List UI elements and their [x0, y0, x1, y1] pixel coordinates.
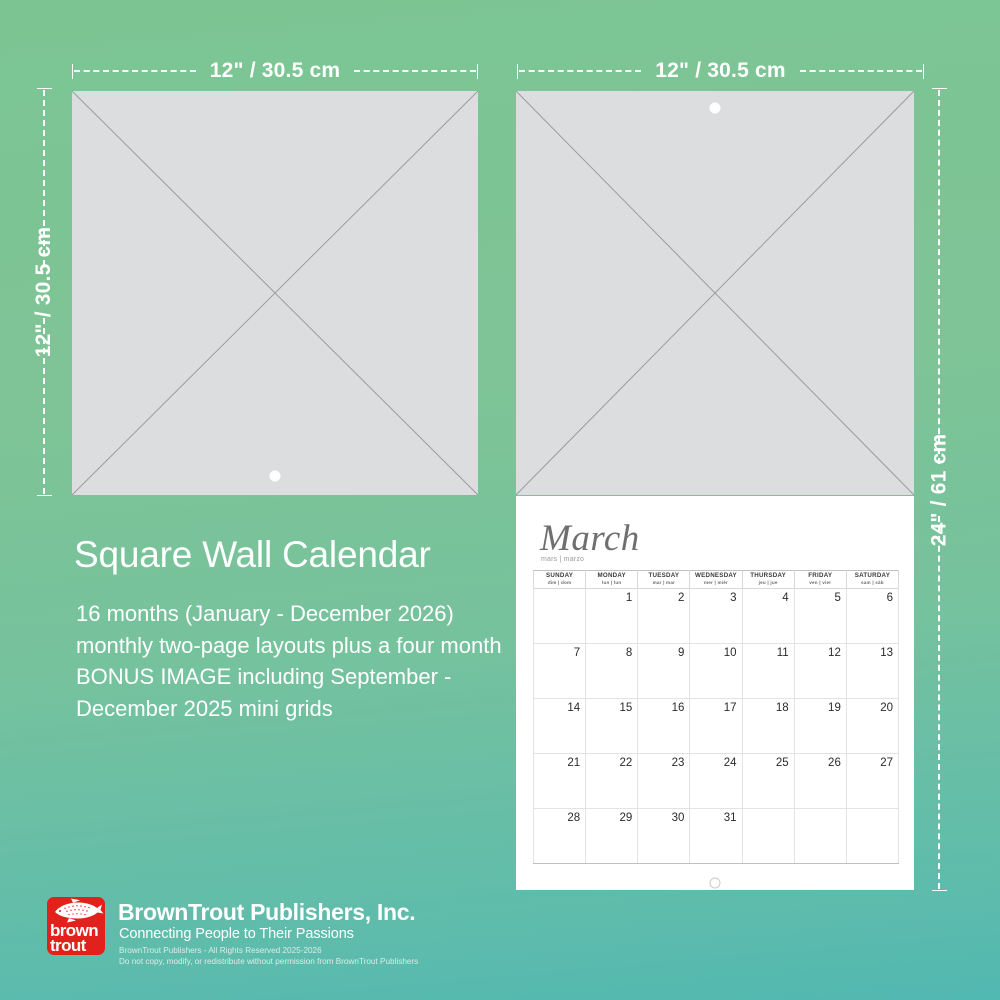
company-name: BrownTrout Publishers, Inc. — [118, 899, 415, 926]
calendar-week-row: 14 15 16 17 18 19 20 — [534, 699, 899, 754]
calendar-day-cell[interactable]: 6 — [846, 589, 898, 644]
dimension-dash-line — [800, 70, 922, 72]
calendar-day-cell[interactable]: 21 — [534, 754, 586, 809]
calendar-day-header-friday: FRIDAY ven | vier — [794, 571, 846, 589]
dimension-dash-line — [938, 90, 940, 464]
calendar-day-cell[interactable]: 25 — [742, 754, 794, 809]
calendar-day-cell[interactable]: 23 — [638, 754, 690, 809]
calendar-day-cell[interactable]: 27 — [846, 754, 898, 809]
left-cover-image-placeholder — [72, 91, 478, 495]
calendar-day-cell[interactable]: 15 — [586, 699, 638, 754]
calendar-day-cell[interactable]: 1 — [586, 589, 638, 644]
dimension-left-panel-height-label: 12" / 30.5 cm — [19, 227, 69, 357]
dimension-dash-line — [354, 70, 476, 72]
calendar-header-row: SUNDAY dim | dom MONDAY lun | lun TUESDA… — [534, 571, 899, 589]
calendar-day-header-tuesday: TUESDAY mar | mar — [638, 571, 690, 589]
dimension-cap-end — [923, 64, 924, 79]
placeholder-diagonals-icon — [72, 91, 478, 495]
calendar-day-cell[interactable]: 14 — [534, 699, 586, 754]
calendar-day-header-sunday: SUNDAY dim | dom — [534, 571, 586, 589]
dimension-left-panel-width: 12" / 30.5 cm — [72, 58, 478, 84]
calendar-week-row: 1 2 3 4 5 6 — [534, 589, 899, 644]
day-name-alt: mar | mar — [638, 580, 689, 586]
hole-punch-icon — [270, 471, 281, 482]
page-title: Square Wall Calendar — [74, 534, 431, 576]
dimension-left-panel-width-label: 12" / 30.5 cm — [197, 59, 353, 83]
day-name-alt: mer | miér — [690, 580, 741, 586]
dimension-cap-start — [37, 88, 52, 89]
calendar-day-cell[interactable]: 18 — [742, 699, 794, 754]
day-name: WEDNESDAY — [690, 572, 741, 580]
legal-notice: BrownTrout Publishers - All Rights Reser… — [119, 946, 418, 967]
product-description: 16 months (January - December 2026) mont… — [76, 598, 526, 724]
day-name-alt: dim | dom — [534, 580, 585, 586]
calendar-day-header-monday: MONDAY lun | lun — [586, 571, 638, 589]
logo-word-trout: trout — [50, 938, 103, 954]
day-name-alt: lun | lun — [586, 580, 637, 586]
dimension-left-panel-height: 12" / 30.5 cm — [31, 88, 57, 496]
calendar-month-subtitle: mars | marzo — [541, 556, 584, 563]
hole-punch-icon — [710, 877, 721, 888]
calendar-day-header-saturday: SATURDAY sam | sáb — [846, 571, 898, 589]
calendar-day-cell[interactable]: 13 — [846, 644, 898, 699]
calendar-day-cell[interactable]: 12 — [794, 644, 846, 699]
trout-fish-icon — [47, 897, 105, 924]
calendar-day-cell[interactable]: 4 — [742, 589, 794, 644]
calendar-day-cell[interactable]: 10 — [690, 644, 742, 699]
calendar-day-header-thursday: THURSDAY jeu | jue — [742, 571, 794, 589]
calendar-day-cell[interactable] — [534, 589, 586, 644]
calendar-day-cell[interactable]: 31 — [690, 809, 742, 864]
day-name-alt: ven | vier — [795, 580, 846, 586]
dimension-cap-start — [72, 64, 73, 79]
calendar-day-cell[interactable]: 11 — [742, 644, 794, 699]
calendar-week-row: 21 22 23 24 25 26 27 — [534, 754, 899, 809]
calendar-day-cell[interactable]: 9 — [638, 644, 690, 699]
calendar-day-cell[interactable]: 30 — [638, 809, 690, 864]
day-name: SATURDAY — [847, 572, 898, 580]
day-name: THURSDAY — [743, 572, 794, 580]
calendar-day-cell[interactable]: 29 — [586, 809, 638, 864]
calendar-week-row: 7 8 9 10 11 12 13 — [534, 644, 899, 699]
calendar-day-cell[interactable]: 2 — [638, 589, 690, 644]
day-name: MONDAY — [586, 572, 637, 580]
dimension-dash-line — [519, 70, 641, 72]
dimension-right-panel-height-label: 24" / 61 cm — [914, 433, 964, 546]
day-name: SUNDAY — [534, 572, 585, 580]
calendar-day-cell[interactable]: 7 — [534, 644, 586, 699]
dimension-right-panel-height: 24" / 61 cm — [926, 88, 952, 891]
company-tagline: Connecting People to Their Passions — [119, 926, 354, 942]
dimension-cap-end — [932, 890, 947, 891]
calendar-day-cell[interactable]: 24 — [690, 754, 742, 809]
calendar-week-row: 28 29 30 31 — [534, 809, 899, 864]
calendar-day-cell[interactable]: 8 — [586, 644, 638, 699]
calendar-day-cell[interactable]: 5 — [794, 589, 846, 644]
calendar-day-cell[interactable]: 26 — [794, 754, 846, 809]
calendar-day-cell[interactable]: 17 — [690, 699, 742, 754]
calendar-day-cell[interactable]: 22 — [586, 754, 638, 809]
calendar-day-cell[interactable] — [742, 809, 794, 864]
dimension-dash-line — [74, 70, 196, 72]
calendar-day-cell[interactable]: 28 — [534, 809, 586, 864]
calendar-day-cell[interactable]: 20 — [846, 699, 898, 754]
day-name: TUESDAY — [638, 572, 689, 580]
calendar-day-header-wednesday: WEDNESDAY mer | miér — [690, 571, 742, 589]
browntrout-logo: brown trout — [47, 897, 105, 955]
dimension-dash-line — [938, 516, 940, 890]
calendar-table: SUNDAY dim | dom MONDAY lun | lun TUESDA… — [533, 570, 899, 864]
legal-line-2: Do not copy, modify, or redistribute wit… — [119, 957, 418, 968]
day-name-alt: jeu | jue — [743, 580, 794, 586]
dimension-cap-end — [477, 64, 478, 79]
calendar-grid-page: March mars | marzo SUNDAY dim | dom MOND… — [516, 496, 914, 890]
dimension-cap-start — [932, 88, 947, 89]
dimension-cap-start — [517, 64, 518, 79]
day-name: FRIDAY — [795, 572, 846, 580]
legal-line-1: BrownTrout Publishers - All Rights Reser… — [119, 946, 418, 957]
dimension-right-panel-width-label: 12" / 30.5 cm — [642, 59, 798, 83]
calendar-day-cell[interactable]: 3 — [690, 589, 742, 644]
hole-punch-icon — [710, 102, 721, 113]
calendar-month-title: March — [540, 520, 640, 557]
dimension-cap-end — [37, 495, 52, 496]
right-cover-image-placeholder — [516, 91, 914, 495]
calendar-day-cell[interactable] — [846, 809, 898, 864]
calendar-day-cell[interactable]: 16 — [638, 699, 690, 754]
calendar-day-cell[interactable] — [794, 809, 846, 864]
dimension-right-panel-width: 12" / 30.5 cm — [517, 58, 924, 84]
day-name-alt: sam | sáb — [847, 580, 898, 586]
placeholder-diagonals-icon — [516, 91, 914, 495]
calendar-day-cell[interactable]: 19 — [794, 699, 846, 754]
